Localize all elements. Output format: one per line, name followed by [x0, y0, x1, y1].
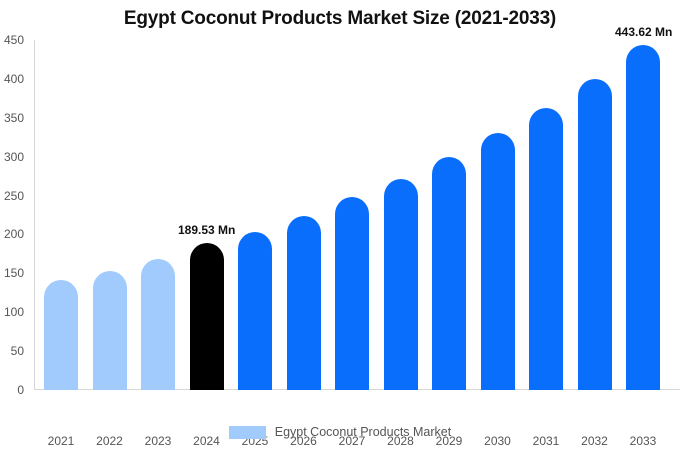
bar-2033[interactable] — [626, 45, 660, 390]
legend-swatch-icon — [229, 426, 266, 439]
y-axis-tick-label: 100 — [0, 306, 24, 318]
y-axis-tick-label: 300 — [0, 151, 24, 163]
bar-2024[interactable] — [190, 243, 224, 390]
y-axis-tick-label: 250 — [0, 190, 24, 202]
legend-label: Egypt Coconut Products Market — [275, 425, 451, 439]
y-axis-line — [34, 40, 35, 390]
chart-title: Egypt Coconut Products Market Size (2021… — [0, 8, 680, 30]
value-label-2033: 443.62 Mn — [615, 26, 672, 38]
y-axis-tick-label: 450 — [0, 34, 24, 46]
chart-legend: Egypt Coconut Products Market — [0, 425, 680, 439]
y-axis-tick-label: 50 — [0, 345, 24, 357]
bar-2030[interactable] — [481, 133, 515, 390]
value-label-2024: 189.53 Mn — [178, 224, 235, 236]
bar-2023[interactable] — [141, 259, 175, 390]
bar-2029[interactable] — [432, 157, 466, 390]
y-axis-tick-label: 350 — [0, 112, 24, 124]
plot-area: 0501001502002503003504004502021202220232… — [34, 40, 680, 390]
bar-chart: Egypt Coconut Products Market Size (2021… — [0, 0, 680, 450]
bar-2031[interactable] — [529, 108, 563, 390]
y-axis-tick-label: 0 — [0, 384, 24, 396]
bar-2025[interactable] — [238, 232, 272, 390]
bar-2022[interactable] — [93, 271, 127, 390]
bar-2021[interactable] — [44, 280, 78, 390]
bar-2032[interactable] — [578, 79, 612, 390]
bar-2028[interactable] — [384, 179, 418, 390]
y-axis-tick-label: 400 — [0, 73, 24, 85]
y-axis-tick-label: 200 — [0, 228, 24, 240]
bar-2026[interactable] — [287, 216, 321, 390]
y-axis-tick-label: 150 — [0, 267, 24, 279]
bar-2027[interactable] — [335, 197, 369, 390]
